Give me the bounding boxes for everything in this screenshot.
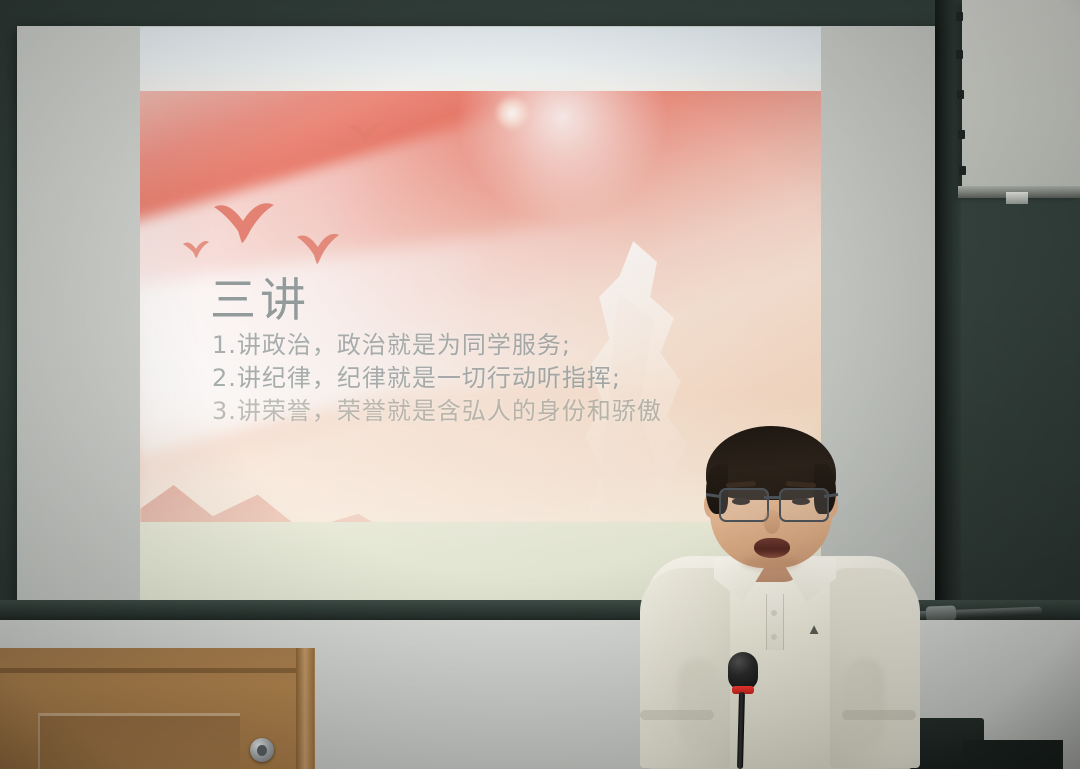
shirt-button (771, 610, 777, 616)
dark-equipment-secondary (963, 740, 1063, 769)
classroom-presentation-scene: 三讲 1.讲政治，政治就是为同学服务; 2.讲纪律，纪律就是一切行动听指挥; 3… (0, 0, 1080, 769)
shirt-button (771, 634, 777, 640)
panel-clip-icon (1006, 192, 1028, 204)
glasses-lens-left (719, 488, 769, 522)
speaker-mouth (754, 538, 790, 558)
sun-glow (495, 96, 529, 130)
slide-body-line: 2.讲纪律，纪律就是一切行动听指挥; (212, 362, 812, 395)
sleeve-hem (640, 710, 714, 720)
shirt-fold (844, 658, 884, 748)
bird-icon (212, 199, 276, 245)
panel-tab-icon (957, 90, 964, 99)
speaker-nose (764, 510, 780, 534)
speaker-chin-shadow (742, 556, 800, 570)
slide-top-margin (140, 27, 821, 95)
polo-placket (766, 594, 784, 650)
shirt-fold (678, 658, 718, 748)
bird-icon (348, 121, 382, 145)
slide-body-list: 1.讲政治，政治就是为同学服务; 2.讲纪律，纪律就是一切行动听指挥; 3.讲荣… (212, 329, 812, 428)
slide-title: 三讲 (210, 277, 310, 323)
speaker-person: ▲ (618, 418, 938, 769)
glasses-lens-right (779, 488, 829, 522)
wall-panel (962, 0, 1080, 196)
panel-tab-icon (956, 50, 963, 59)
shirt-logo-icon: ▲ (806, 622, 822, 638)
slide-body-line: 1.讲政治，政治就是为同学服务; (212, 329, 812, 362)
door-edge (296, 648, 314, 769)
panel-tab-icon (956, 12, 963, 21)
sleeve-hem (842, 710, 916, 720)
glasses-bridge (764, 496, 780, 499)
door-panel (38, 713, 240, 769)
door-seam (0, 668, 300, 673)
panel-tab-icon (958, 130, 965, 139)
bird-icon (182, 239, 210, 259)
door-knob-core[interactable] (257, 745, 267, 756)
panel-tab-icon (959, 166, 966, 175)
bird-icon (296, 231, 340, 265)
microphone-head-icon (728, 652, 758, 690)
